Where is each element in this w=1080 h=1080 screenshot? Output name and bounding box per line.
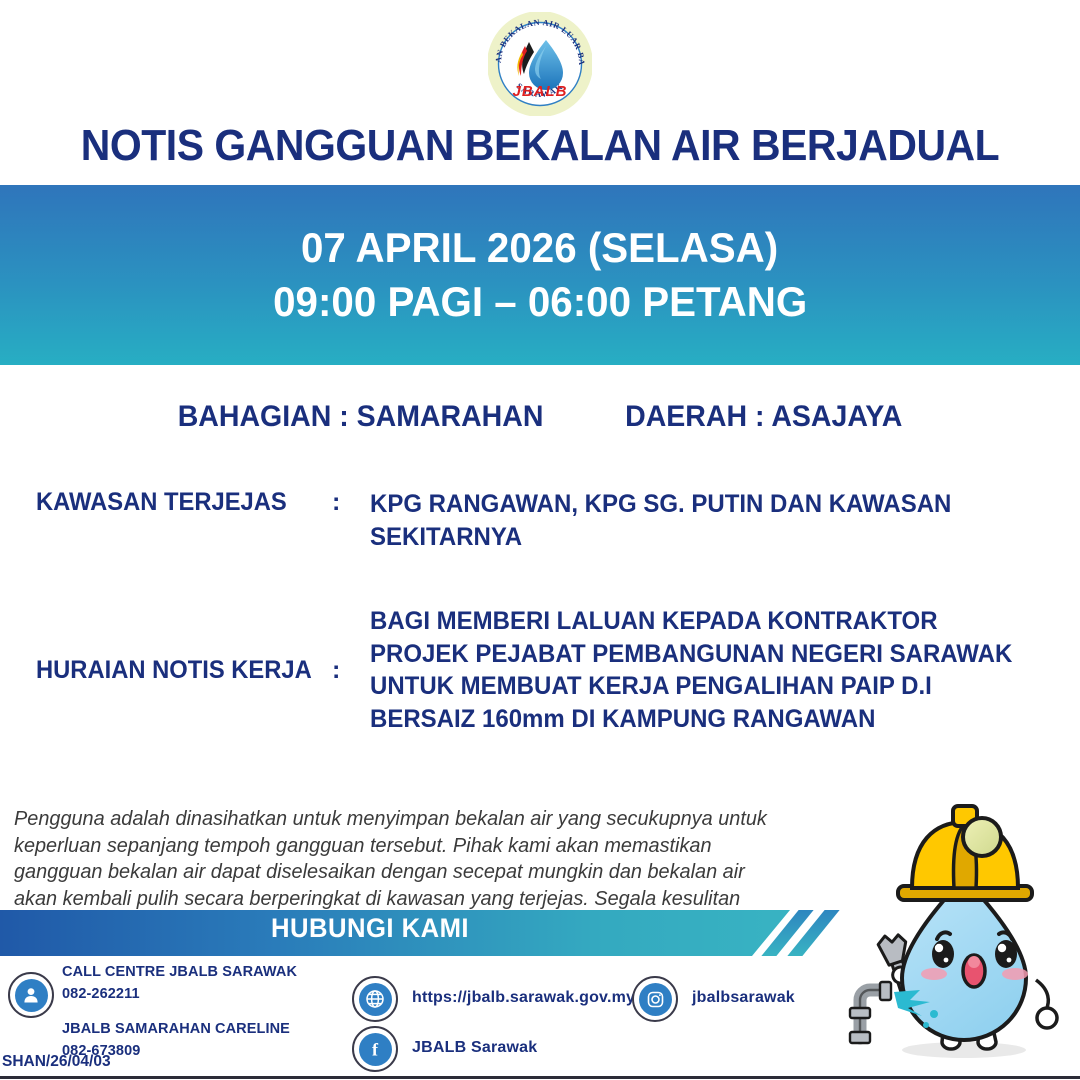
website-url[interactable]: https://jbalb.sarawak.gov.my/ (412, 989, 640, 1007)
affected-area-separator: : (332, 488, 370, 553)
careline-label: JBALB SAMARAHAN CARELINE (62, 1018, 290, 1040)
bahagian-label: BAHAGIAN : SAMARAHAN (178, 400, 544, 434)
facebook-handle[interactable]: JBALB Sarawak (412, 1039, 537, 1057)
work-description-separator: : (332, 656, 370, 685)
page-title: NOTIS GANGGUAN BEKALAN AIR BERJADUAL (38, 121, 1042, 171)
water-supply-disruption-notice-poster: JABATAN BEKALAN AIR LUAR BANDAR SARAWAK … (0, 0, 1080, 1080)
call-centre-label: CALL CENTRE JBALB SARAWAK (62, 961, 297, 983)
water-drop-mascot-icon (836, 792, 1080, 1076)
svg-text:f: f (372, 1040, 379, 1060)
call-centre-phone[interactable]: 082-262211 (62, 983, 297, 1005)
call-centre-block: CALL CENTRE JBALB SARAWAK 082-262211 (62, 961, 297, 1005)
work-description-row: HURAIAN NOTIS KERJA : BAGI MEMBERI LALUA… (36, 605, 1046, 735)
logo-container: JABATAN BEKALAN AIR LUAR BANDAR SARAWAK … (0, 8, 1080, 120)
jbalb-sarawak-logo-icon: JABATAN BEKALAN AIR LUAR BANDAR SARAWAK … (488, 12, 592, 116)
affected-area-label: KAWASAN TERJEJAS (36, 488, 317, 517)
instagram-icon[interactable] (632, 976, 678, 1022)
person-icon (8, 972, 54, 1018)
contact-bar-title: HUBUNGI KAMI (19, 913, 722, 944)
document-reference-code: SHAN/26/04/03 (2, 1053, 111, 1071)
affected-area-row: KAWASAN TERJEJAS : KPG RANGAWAN, KPG SG.… (36, 488, 1046, 553)
globe-icon[interactable] (352, 976, 398, 1022)
work-description-value: BAGI MEMBERI LALUAN KEPADA KONTRAKTOR PR… (370, 605, 1019, 735)
affected-area-value: KPG RANGAWAN, KPG SG. PUTIN DAN KAWASAN … (370, 488, 1019, 553)
work-description-label: HURAIAN NOTIS KERJA (36, 656, 317, 685)
bottom-divider (0, 1076, 1080, 1079)
instagram-handle[interactable]: jbalbsarawak (692, 989, 795, 1007)
region-row: BAHAGIAN : SAMARAHAN DAERAH : ASAJAYA (27, 400, 1053, 434)
date-time-banner: 07 APRIL 2026 (SELASA) 09:00 PAGI – 06:0… (0, 185, 1080, 365)
notice-time-range: 09:00 PAGI – 06:00 PETANG (273, 275, 807, 329)
daerah-label: DAERAH : ASAJAYA (625, 400, 902, 434)
facebook-icon[interactable]: f (352, 1026, 398, 1072)
svg-text:JBALB: JBALB (512, 83, 567, 100)
notice-date: 07 APRIL 2026 (SELASA) (301, 221, 778, 275)
